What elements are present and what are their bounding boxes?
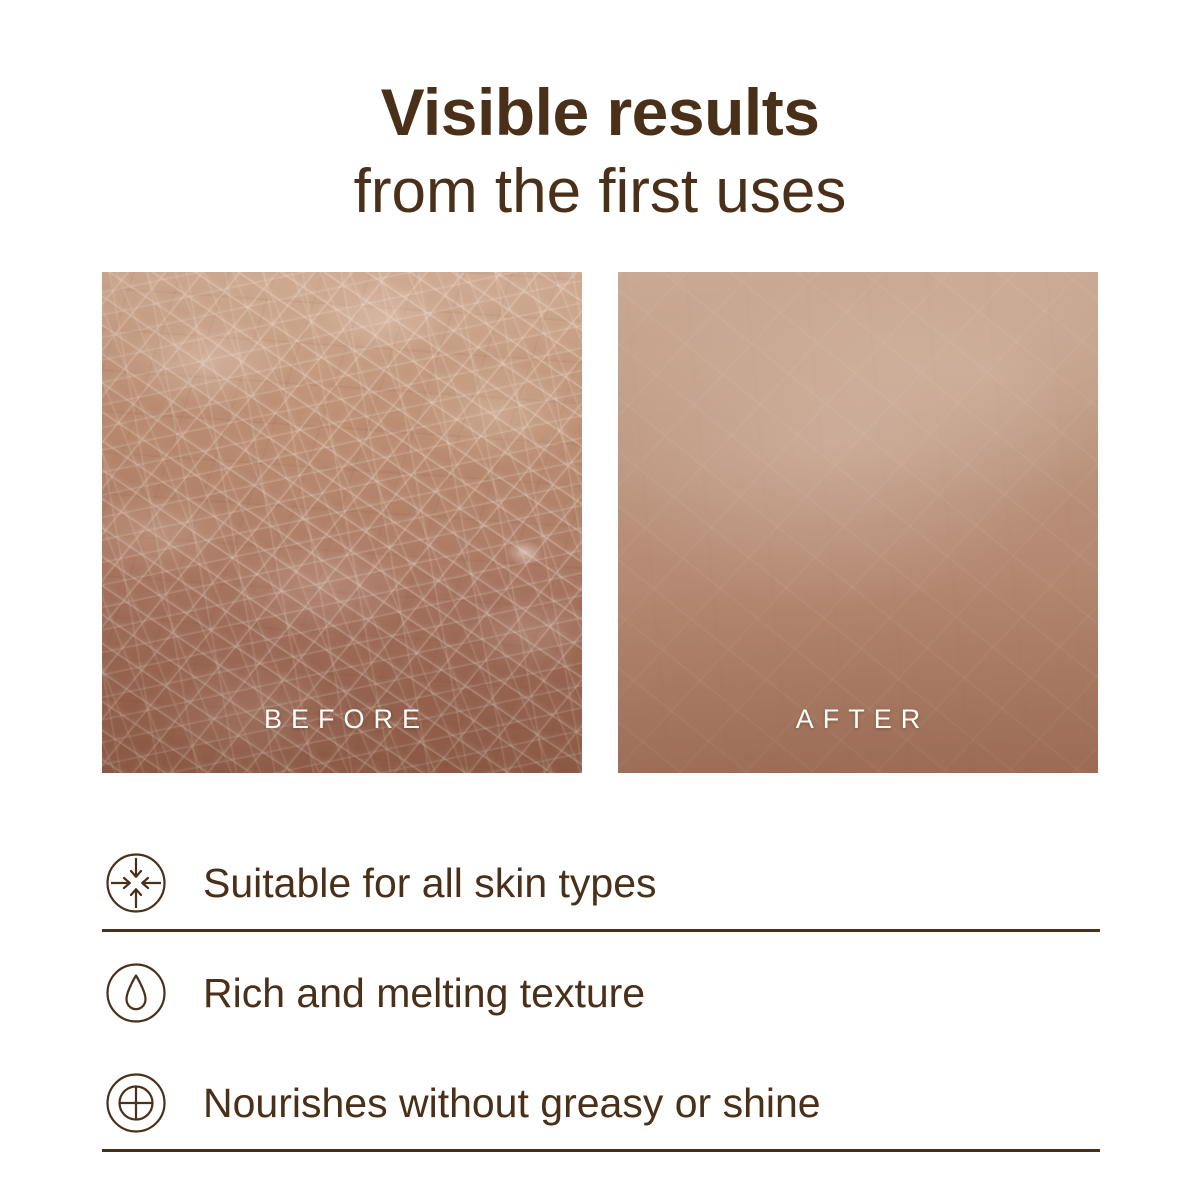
after-caption: AFTER	[618, 704, 1098, 735]
before-after-comparison: BEFORE AFTER	[102, 272, 1098, 773]
before-caption: BEFORE	[102, 704, 582, 735]
page-subtitle: from the first uses	[0, 152, 1200, 232]
page-title: Visible results	[0, 72, 1200, 152]
heading-block: Visible results from the first uses	[0, 72, 1200, 232]
droplet-circle-icon	[105, 962, 167, 1024]
before-panel-shading	[102, 272, 582, 773]
benefit-row-skin-types: Suitable for all skin types	[102, 828, 1100, 938]
crosshair-circle-icon	[105, 1072, 167, 1134]
after-panel-sheen	[618, 272, 1098, 773]
benefit-row-nourish: Nourishes without greasy or shine	[102, 1048, 1100, 1158]
infographic-page: Visible results from the first uses BEFO…	[0, 0, 1200, 1200]
after-panel: AFTER	[618, 272, 1098, 773]
benefit-divider-1	[102, 929, 1100, 932]
benefits-list: Suitable for all skin types Rich and mel…	[102, 828, 1100, 1158]
before-panel: BEFORE	[102, 272, 582, 773]
benefit-label-nourish: Nourishes without greasy or shine	[203, 1079, 821, 1127]
skin-texture-dry-image	[102, 272, 582, 773]
benefit-row-texture: Rich and melting texture	[102, 938, 1100, 1048]
benefit-label-skin-types: Suitable for all skin types	[203, 859, 657, 907]
converging-arrows-circle-icon	[105, 852, 167, 914]
benefit-label-texture: Rich and melting texture	[203, 969, 645, 1017]
skin-texture-smooth-image	[618, 272, 1098, 773]
